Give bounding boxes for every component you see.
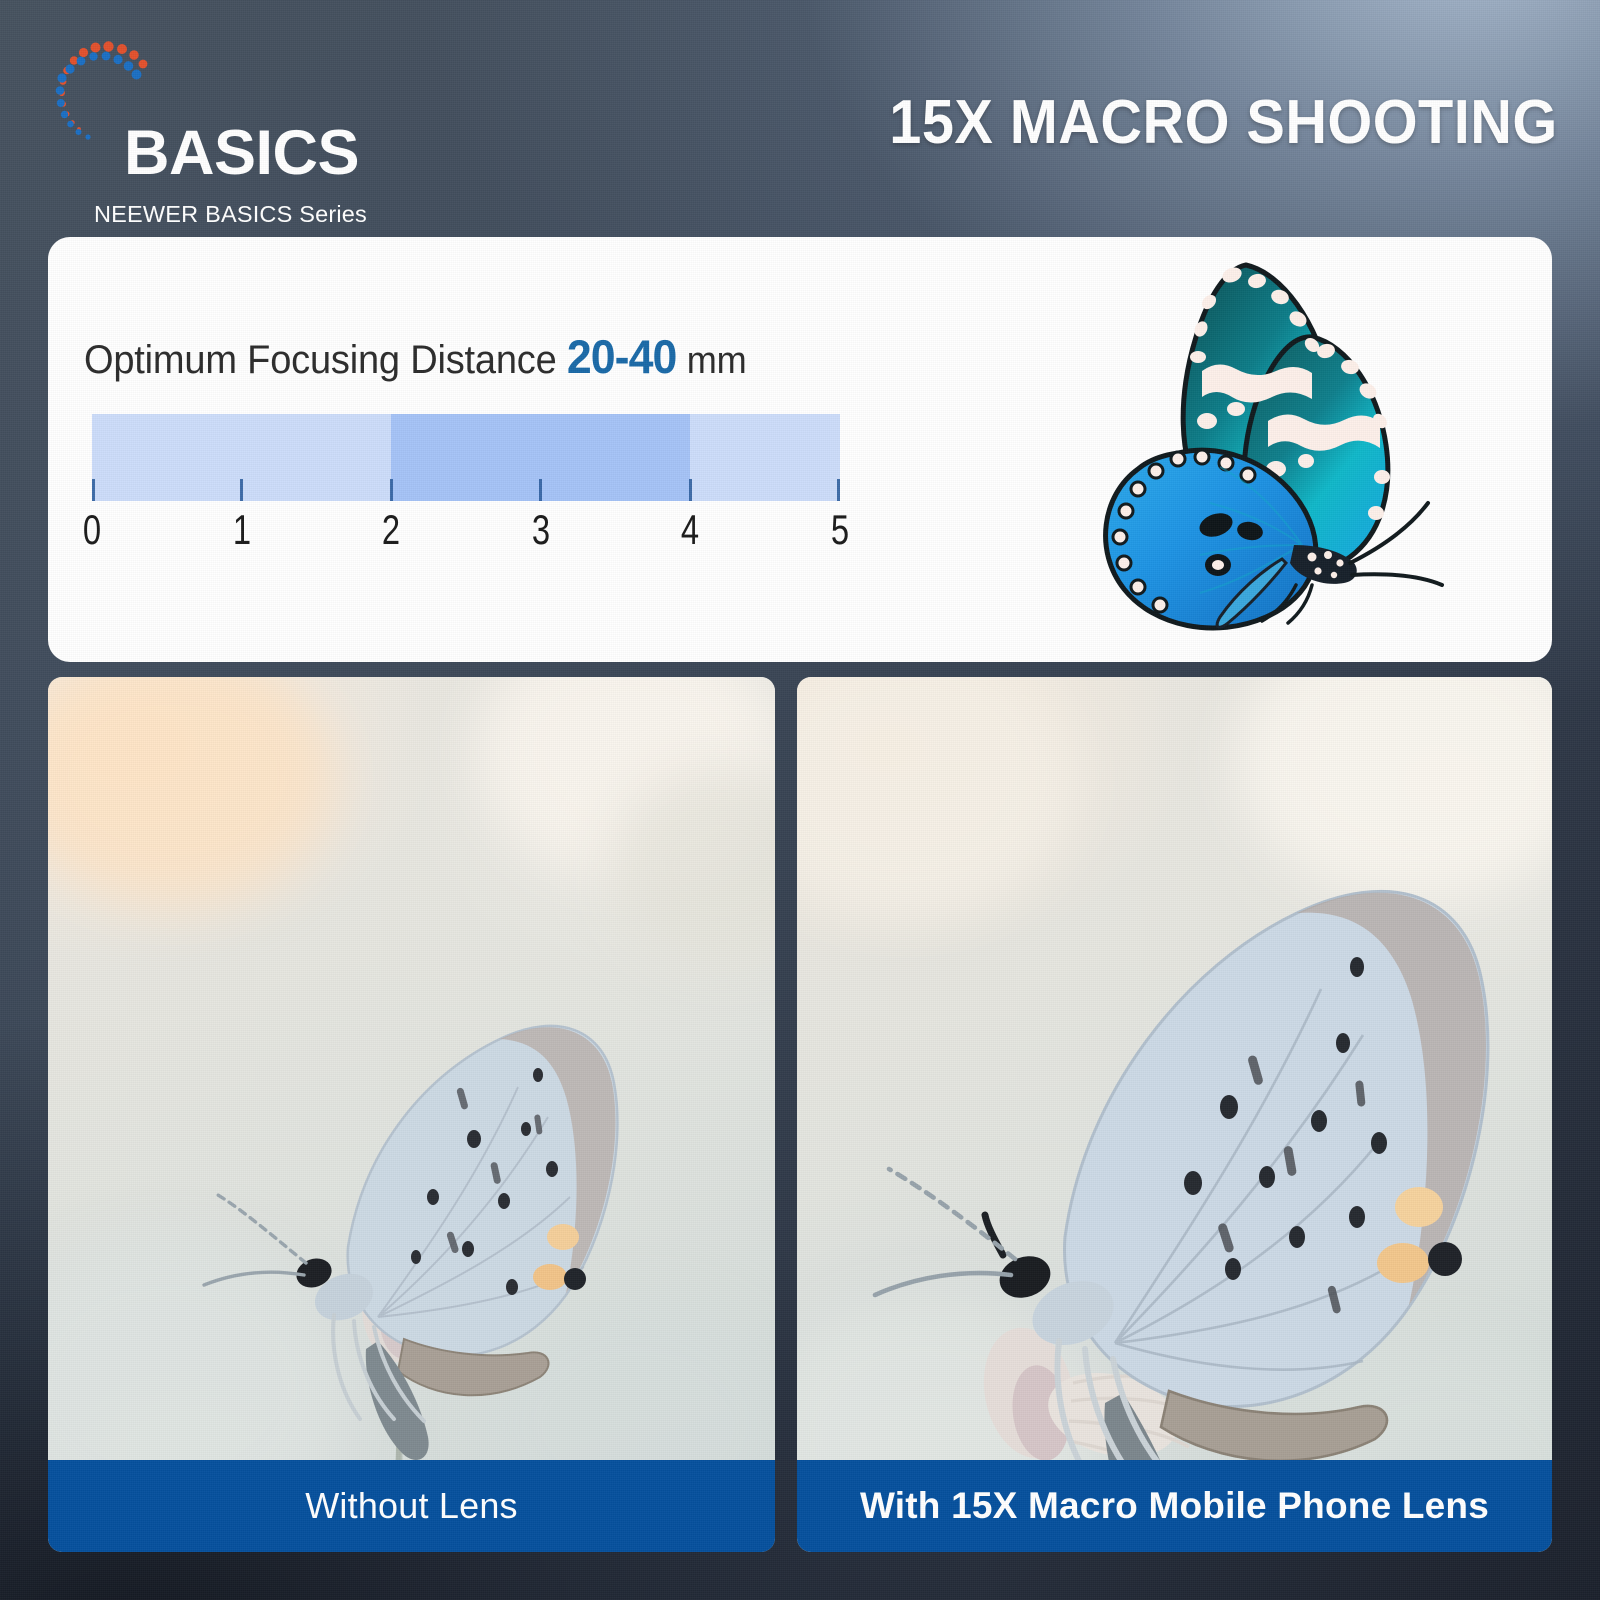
focusing-distance-value: 20-40 xyxy=(567,330,676,383)
brand-lockup: BASICS NEEWER BASICS Series xyxy=(48,36,468,196)
focusing-distance-title: Optimum Focusing Distance 20-40 mm xyxy=(84,329,747,384)
butterfly-subject-magnified xyxy=(797,677,1552,1552)
scale-tick-label: 1 xyxy=(232,506,250,554)
comparison-panel-without-lens: Without Lens xyxy=(48,677,775,1552)
caption-with-lens: With 15X Macro Mobile Phone Lens xyxy=(797,1460,1552,1552)
header: BASICS NEEWER BASICS Series 15X MACRO SH… xyxy=(0,0,1600,237)
scale-tick xyxy=(689,479,692,501)
scale-tick xyxy=(539,479,542,501)
pale-blue-butterfly-photo-magnified xyxy=(797,677,1552,1552)
scale-tick-label: 4 xyxy=(681,506,699,554)
butterfly-subject-small xyxy=(48,677,775,1552)
product-feature-graphic: BASICS NEEWER BASICS Series 15X MACRO SH… xyxy=(0,0,1600,1600)
caption-without-lens: Without Lens xyxy=(48,1460,775,1552)
pale-blue-butterfly-photo-small xyxy=(48,677,775,1552)
scale-tick xyxy=(240,479,243,501)
brand-name: BASICS xyxy=(124,122,359,185)
scale-tick-label: 2 xyxy=(382,506,400,554)
scale-tick-label: 3 xyxy=(532,506,550,554)
comparison-panel-with-lens: With 15X Macro Mobile Phone Lens xyxy=(797,677,1552,1552)
scale-tick xyxy=(390,479,393,501)
brand-subtitle: NEEWER BASICS Series xyxy=(94,201,367,228)
scale-tick-label: 0 xyxy=(83,506,101,554)
scale-track xyxy=(92,414,840,501)
focusing-distance-unit: mm xyxy=(687,340,747,382)
focusing-distance-label: Optimum Focusing Distance xyxy=(84,338,557,382)
distance-scale-chart: 012345 xyxy=(92,414,840,574)
scale-tick xyxy=(92,479,95,501)
blue-butterfly-illustration xyxy=(1050,245,1490,655)
spec-card: Optimum Focusing Distance 20-40 mm 01234… xyxy=(48,237,1552,662)
scale-tick xyxy=(837,479,840,501)
scale-tick-label: 5 xyxy=(831,506,849,554)
page-title: 15X MACRO SHOOTING xyxy=(890,92,1558,154)
